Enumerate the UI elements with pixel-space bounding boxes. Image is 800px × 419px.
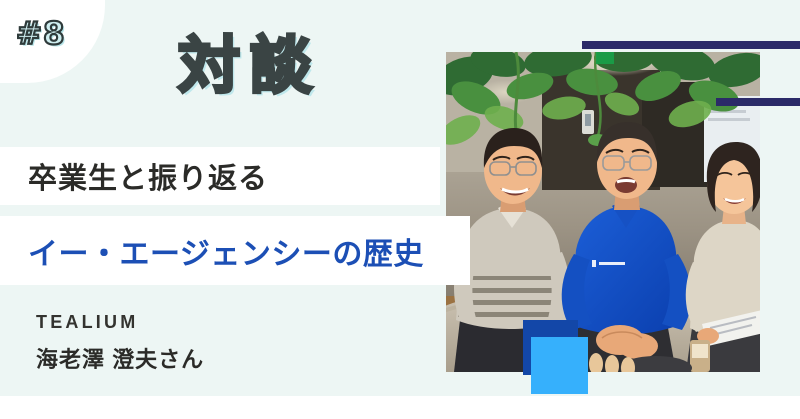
credit-block: TEALIUM 海老澤 澄夫さん bbox=[36, 312, 204, 374]
guest-name: 海老澤 澄夫さん bbox=[36, 342, 204, 374]
navy-bar-lower bbox=[716, 98, 800, 106]
photo-illustration bbox=[446, 52, 760, 372]
subtitle-line-1: 卒業生と振り返る bbox=[28, 155, 268, 197]
subtitle-line-2: イー・エージェンシーの歴史 bbox=[28, 229, 424, 273]
navy-bar-top bbox=[582, 41, 800, 49]
blue-square-light bbox=[531, 337, 588, 394]
page-title: 対談 bbox=[178, 36, 322, 98]
episode-number: #8 bbox=[16, 16, 66, 52]
company-name: TEALIUM bbox=[36, 312, 204, 333]
subtitle-band-secondary: イー・エージェンシーの歴史 bbox=[0, 216, 470, 285]
subtitle-band-primary: 卒業生と振り返る bbox=[0, 147, 440, 205]
thumbnail-card: #8 対談 卒業生と振り返る イー・エージェンシーの歴史 TEALIUM 海老澤… bbox=[0, 0, 800, 419]
interview-photo bbox=[446, 52, 760, 372]
